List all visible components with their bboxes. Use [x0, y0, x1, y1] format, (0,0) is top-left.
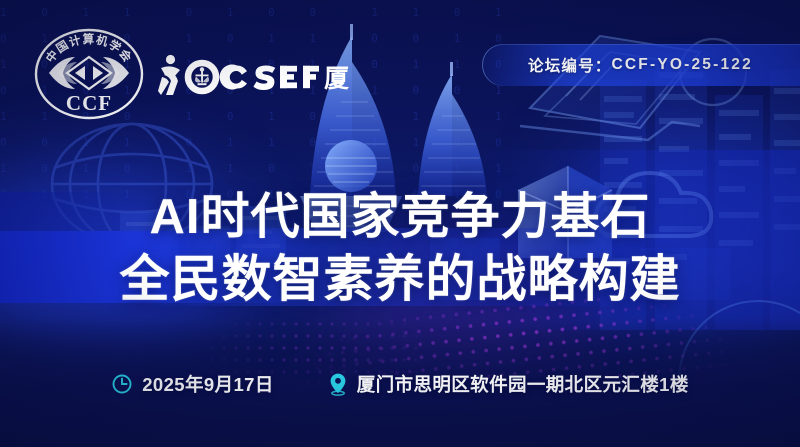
event-date: 2025年9月17日	[111, 371, 274, 397]
forum-number-label: 论坛编号：	[528, 54, 612, 76]
yocsef-logo-icon: 厦门	[158, 52, 350, 98]
title-line-1: AI时代国家竞争力基石	[0, 186, 800, 248]
clock-icon	[111, 373, 133, 395]
poster-root: 1 0 1 1 0 1 0 0 1 1 0 1 0 1 1 0 1 0 1 1 …	[0, 0, 800, 447]
event-location-text: 厦门市思明区软件园一期北区元汇楼1楼	[357, 371, 689, 397]
poster-footer: 2025年9月17日 厦门市思明区软件园一期北区元汇楼1楼	[0, 371, 800, 397]
poster-title: AI时代国家竞争力基石 全民数智素养的战略构建	[0, 186, 800, 310]
event-date-text: 2025年9月17日	[142, 371, 274, 397]
sphere-landmark	[325, 140, 377, 192]
ccf-emblem-icon: 中国计算机学会 CCF	[33, 26, 145, 122]
svg-text:厦门: 厦门	[324, 64, 350, 93]
svg-text:中国计算机学会: 中国计算机学会	[43, 32, 135, 65]
event-location: 厦门市思明区软件园一期北区元汇楼1楼	[328, 371, 689, 397]
location-pin-icon	[328, 372, 348, 396]
title-line-2: 全民数智素养的战略构建	[0, 248, 800, 310]
forum-number-banner: 论坛编号： CCF-YO-25-122	[482, 44, 800, 86]
poster-header: 中国计算机学会 CCF	[0, 0, 800, 120]
forum-number-code: CCF-YO-25-122	[612, 56, 753, 74]
svg-text:CCF: CCF	[66, 91, 112, 115]
